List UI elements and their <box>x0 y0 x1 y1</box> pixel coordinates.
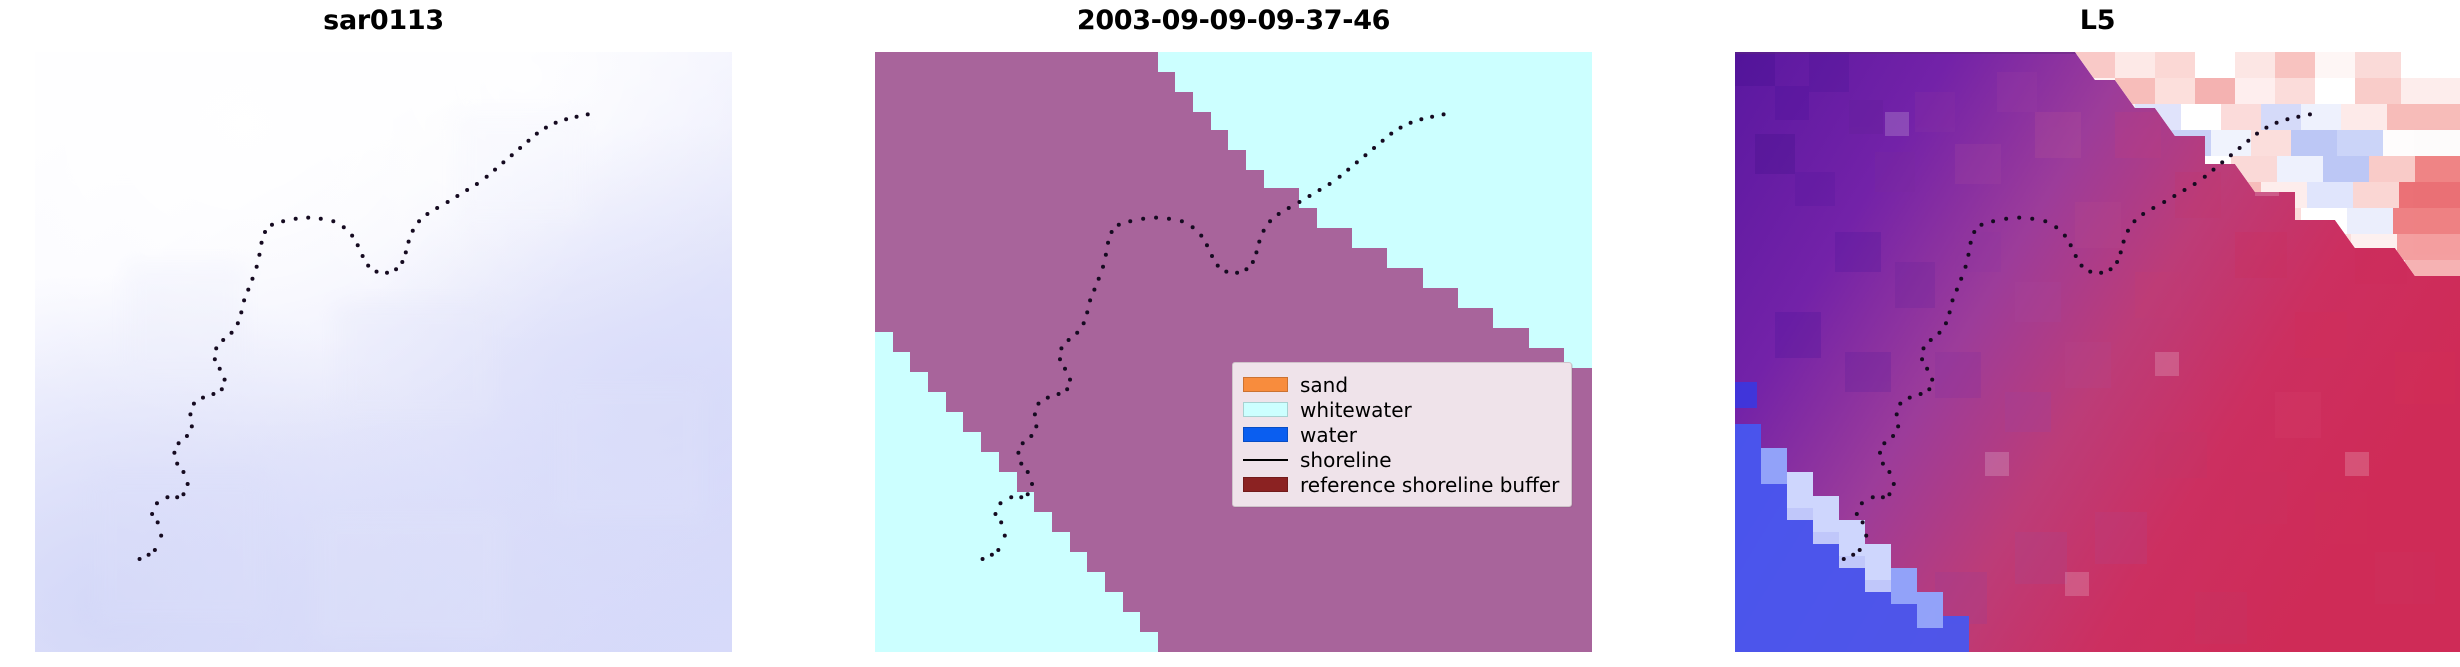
legend-label-shoreline: shoreline <box>1300 450 1392 470</box>
legend-label-sand: sand <box>1300 375 1348 395</box>
legend-swatch-reference-shoreline-buffer <box>1243 477 1288 492</box>
panel-classification-image[interactable]: sand whitewater water shoreline referenc… <box>875 52 1592 652</box>
legend-swatch-sand <box>1243 377 1288 392</box>
panel-sar-image[interactable] <box>35 52 732 652</box>
legend-item-whitewater[interactable]: whitewater <box>1243 397 1559 422</box>
panel-title-classification: 2003-09-09-09-37-46 <box>875 5 1592 36</box>
legend-label-water: water <box>1300 425 1357 445</box>
legend-swatch-whitewater <box>1243 402 1288 417</box>
legend-item-shoreline[interactable]: shoreline <box>1243 447 1559 472</box>
legend-label-reference-shoreline-buffer: reference shoreline buffer <box>1300 475 1559 495</box>
legend-label-whitewater: whitewater <box>1300 400 1412 420</box>
panel-title-l5: L5 <box>1735 5 2460 36</box>
classification-raster <box>875 52 1592 652</box>
legend-box[interactable]: sand whitewater water shoreline referenc… <box>1232 362 1572 507</box>
l5-raster <box>1735 52 2460 652</box>
panel-l5-image[interactable] <box>1735 52 2460 652</box>
legend-item-sand[interactable]: sand <box>1243 372 1559 397</box>
legend-swatch-shoreline <box>1243 459 1288 461</box>
figure-canvas: sar0113 2003-09-09-09-37-46 L5 <box>0 0 2460 667</box>
sar-raster <box>35 52 732 652</box>
legend-item-reference-shoreline-buffer[interactable]: reference shoreline buffer <box>1243 472 1559 497</box>
legend-item-water[interactable]: water <box>1243 422 1559 447</box>
panel-title-sar: sar0113 <box>35 5 732 36</box>
legend-swatch-water <box>1243 427 1288 442</box>
